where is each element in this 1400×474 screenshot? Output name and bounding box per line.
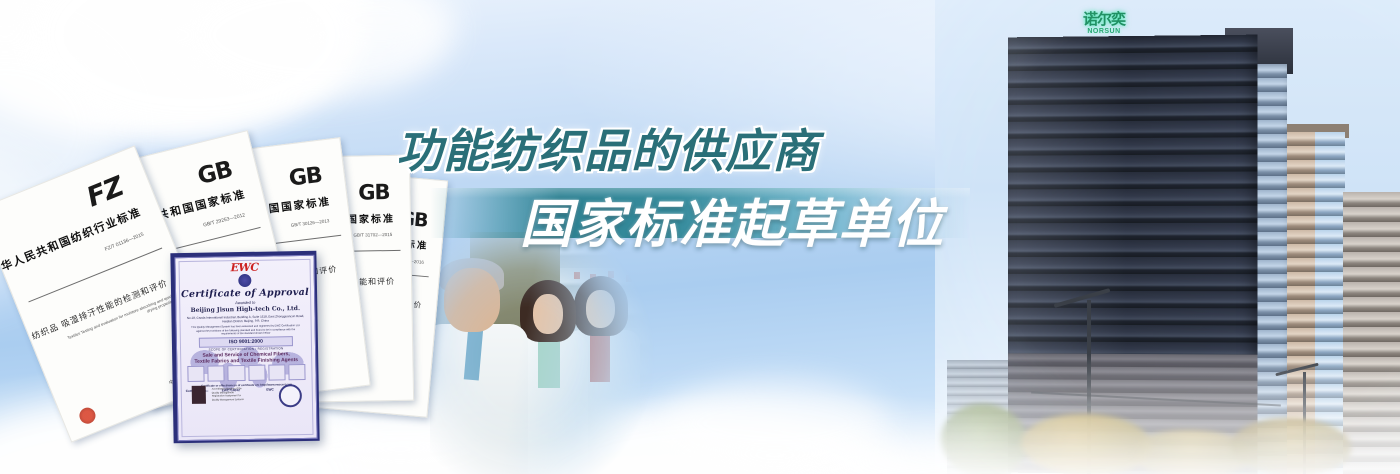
fz-mark: FZ: [83, 171, 128, 213]
certificate-detail-box: [228, 365, 245, 381]
certificate-detail-box: [207, 365, 224, 381]
ewc-logo: EWC: [176, 260, 314, 275]
lab-photo-fade: [430, 232, 680, 474]
rooftop-sign: 诺尔奕 NORSUN: [1068, 6, 1140, 40]
iso-certificate: EWC Certificate of Approval Awarded to B…: [170, 251, 319, 444]
certificate-emblem-icon: [238, 274, 251, 287]
certificate-seal: [279, 384, 302, 407]
rooftop-sign-en: NORSUN: [1087, 28, 1120, 35]
certificate-detail-box: [288, 364, 305, 380]
accreditation-line-4: Quality Management Systems: [212, 398, 244, 402]
accreditation-logo: [192, 386, 206, 404]
certificate-detail-box: [187, 366, 204, 382]
certificate-company: Beijing Jisun High-tech Co., Ltd.: [176, 305, 314, 314]
standards-document-fan: GB 中国国家标准 GB/T 32614—2016 纺织品 远红外性能和评价 G…: [0, 140, 460, 460]
headline-accent-band: [430, 188, 970, 238]
certificate-detail-box: [248, 365, 265, 381]
photo-bottom-haze: [935, 354, 1400, 474]
document-code: FZ/T 01136—2015: [104, 232, 145, 253]
document-code: GB/T 30126—2013: [291, 218, 330, 228]
document-code: GB/T 29253—2012: [203, 212, 246, 228]
certificate-detail-box: [268, 364, 285, 380]
certificate-detail-boxes: [187, 364, 305, 382]
gb-mark: GB: [288, 163, 324, 192]
document-seal: [77, 405, 98, 426]
gb-mark: GB: [358, 180, 390, 205]
rooftop-sign-cn: 诺尔奕: [1083, 12, 1125, 27]
hero-banner: 诺尔奕 NORSUN: [0, 0, 1400, 474]
laboratory-team-photo: [430, 232, 680, 474]
gb-mark: GB: [195, 157, 235, 191]
office-building-photo: 诺尔奕 NORSUN: [935, 0, 1400, 474]
document-code: GB/T 31702—2015: [353, 232, 392, 238]
certificate-issuer: EWC: [266, 388, 274, 392]
